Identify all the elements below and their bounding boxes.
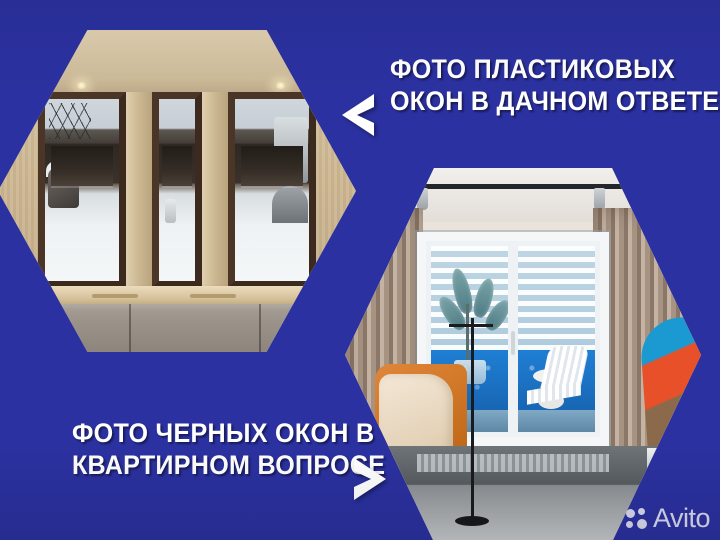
cushion-right (310, 288, 352, 338)
room-ceiling (345, 168, 701, 222)
track-spotlight-right (594, 188, 605, 210)
window-sill (22, 286, 332, 306)
window-assembly (38, 92, 316, 288)
snow-cap-left (46, 161, 79, 177)
headline-bottom-line1: ФОТО ЧЕРНЫХ ОКОН В (72, 418, 336, 450)
avito-watermark: Avito (626, 503, 710, 534)
hex-photo-apartment-balcony-door (345, 168, 701, 540)
door-threshold-grate (417, 454, 609, 472)
door-handle (511, 331, 515, 355)
sill-vent-left (92, 294, 138, 298)
covered-pile-left (48, 168, 79, 208)
window-sash-right (228, 92, 316, 288)
wall-art-panel (639, 316, 701, 500)
avito-dot-1 (626, 509, 635, 518)
door-leaf-right (513, 241, 600, 437)
neighbour-shed (274, 117, 308, 183)
chevron-right-icon (352, 458, 388, 500)
window-bench (6, 304, 348, 352)
window-mullion-left (126, 92, 152, 288)
bench-seam-right (259, 304, 261, 352)
avito-dot-4 (637, 519, 647, 529)
avito-dot-2 (638, 508, 645, 515)
balcony-floor-right (518, 410, 595, 432)
ceiling-spotlight-left (76, 82, 87, 89)
yard-view-left (45, 99, 119, 281)
bare-tree-branches (49, 103, 90, 139)
hex-photo-dacha-window (0, 30, 356, 352)
ceiling-soffit (0, 30, 356, 100)
snow-covered-crate (165, 199, 176, 223)
ceiling-spotlight-right (275, 82, 286, 89)
yard-view-right (235, 99, 309, 281)
headline-bottom: ФОТО ЧЕРНЫХ ОКОН В КВАРТИРНОМ ВОПРОСЕ (62, 418, 346, 482)
track-spotlight-left (417, 188, 428, 210)
sill-vent-right (190, 294, 236, 298)
radiator-nook (647, 448, 695, 482)
ad-canvas: ФОТО ПЛАСТИКОВЫХ ОКОН В ДАЧНОМ ОТВЕТЕ ФО… (0, 0, 720, 540)
lounge-chair-seat (527, 382, 581, 406)
window-sash-left (38, 92, 126, 288)
window-mullion-right (202, 92, 228, 288)
avito-dots-icon (626, 508, 648, 530)
lounge-chair-back (540, 346, 589, 388)
window-sash-center (152, 92, 202, 288)
headline-top-line1: ФОТО ПЛАСТИКОВЫХ (390, 54, 719, 86)
headline-top: ФОТО ПЛАСТИКОВЫХ ОКОН В ДАЧНОМ ОТВЕТЕ (390, 54, 720, 118)
avito-wordmark: Avito (653, 503, 710, 534)
cushion-left (2, 288, 44, 338)
dacha-window-photo (0, 30, 356, 352)
track-light-rail (345, 184, 701, 189)
yard-view-center (159, 99, 195, 281)
greenhouse-dome (272, 186, 308, 222)
chevron-left-icon (340, 94, 376, 136)
bench-seam-left (129, 304, 131, 352)
lounge-chair (527, 346, 589, 402)
headline-top-line2: ОКОН В ДАЧНОМ ОТВЕТЕ (390, 86, 719, 118)
apartment-balcony-photo (345, 168, 701, 540)
headline-bottom-line2: КВАРТИРНОМ ВОПРОСЕ (72, 450, 336, 482)
floor-lamp (471, 318, 474, 520)
avito-dot-3 (626, 521, 633, 528)
